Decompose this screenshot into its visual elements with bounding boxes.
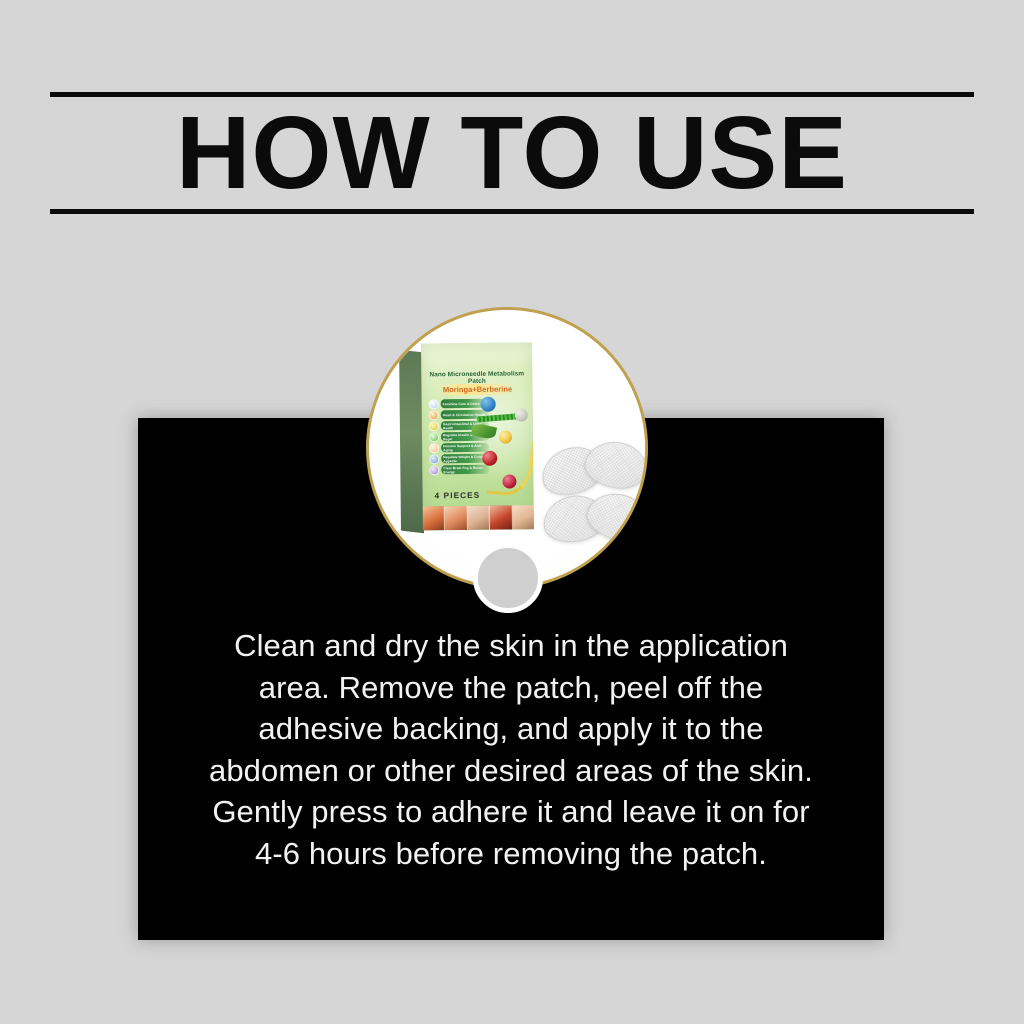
badge-dot bbox=[473, 543, 543, 613]
instruction-line: area. Remove the patch, peel off the bbox=[156, 667, 866, 709]
product-photo-thumbnail bbox=[468, 506, 491, 530]
raspberry-icon bbox=[502, 474, 516, 488]
patch-item bbox=[582, 486, 645, 547]
instruction-line: 4-6 hours before removing the patch. bbox=[156, 833, 866, 875]
product-photo-thumbnail bbox=[445, 506, 468, 530]
poster-canvas: HOW TO USE Clean and dry the skin in the… bbox=[0, 0, 1024, 1024]
product-quantity-label: 4 PIECES bbox=[435, 491, 481, 500]
product-box-subtitle: Moringa+Berberine bbox=[438, 383, 516, 395]
page-title: HOW TO USE bbox=[50, 96, 974, 209]
berry-icon bbox=[482, 451, 497, 466]
benefit-bullet-icon bbox=[429, 421, 439, 431]
instructions-text: Clean and dry the skin in the applicatio… bbox=[138, 625, 884, 874]
patch-cluster bbox=[541, 440, 645, 552]
instruction-line: abdomen or other desired areas of the sk… bbox=[156, 750, 866, 792]
product-photo-thumbnail bbox=[423, 506, 446, 530]
product-box: Nano Microneedle Metabolism Patch Moring… bbox=[399, 342, 534, 530]
benefit-bullet-icon bbox=[429, 454, 439, 464]
title-rule-bottom bbox=[50, 209, 974, 214]
benefit-bullet-icon bbox=[429, 432, 439, 442]
instruction-line: Gently press to adhere it and leave it o… bbox=[156, 791, 866, 833]
product-box-side-panel bbox=[399, 350, 424, 534]
ribbon-decoration bbox=[487, 439, 534, 498]
benefit-bullet-icon bbox=[429, 410, 439, 420]
botanical-artwork bbox=[473, 394, 532, 500]
instruction-line: Clean and dry the skin in the applicatio… bbox=[156, 625, 866, 667]
product-photo-strip bbox=[423, 505, 534, 530]
benefit-bullet-icon bbox=[429, 399, 439, 409]
product-box-front-panel: Nano Microneedle Metabolism Patch Moring… bbox=[421, 342, 534, 530]
leaf-icon bbox=[471, 422, 497, 440]
instruction-line: adhesive backing, and apply it to the bbox=[156, 708, 866, 750]
seed-pod-icon bbox=[515, 408, 528, 421]
turmeric-icon bbox=[499, 431, 512, 444]
product-photo-thumbnail bbox=[512, 505, 534, 529]
product-photo-thumbnail bbox=[490, 506, 513, 530]
header-block: HOW TO USE bbox=[50, 92, 974, 214]
benefit-bullet-icon bbox=[429, 465, 439, 475]
blueberry-icon bbox=[481, 397, 496, 412]
benefit-bullet-icon bbox=[429, 443, 439, 453]
